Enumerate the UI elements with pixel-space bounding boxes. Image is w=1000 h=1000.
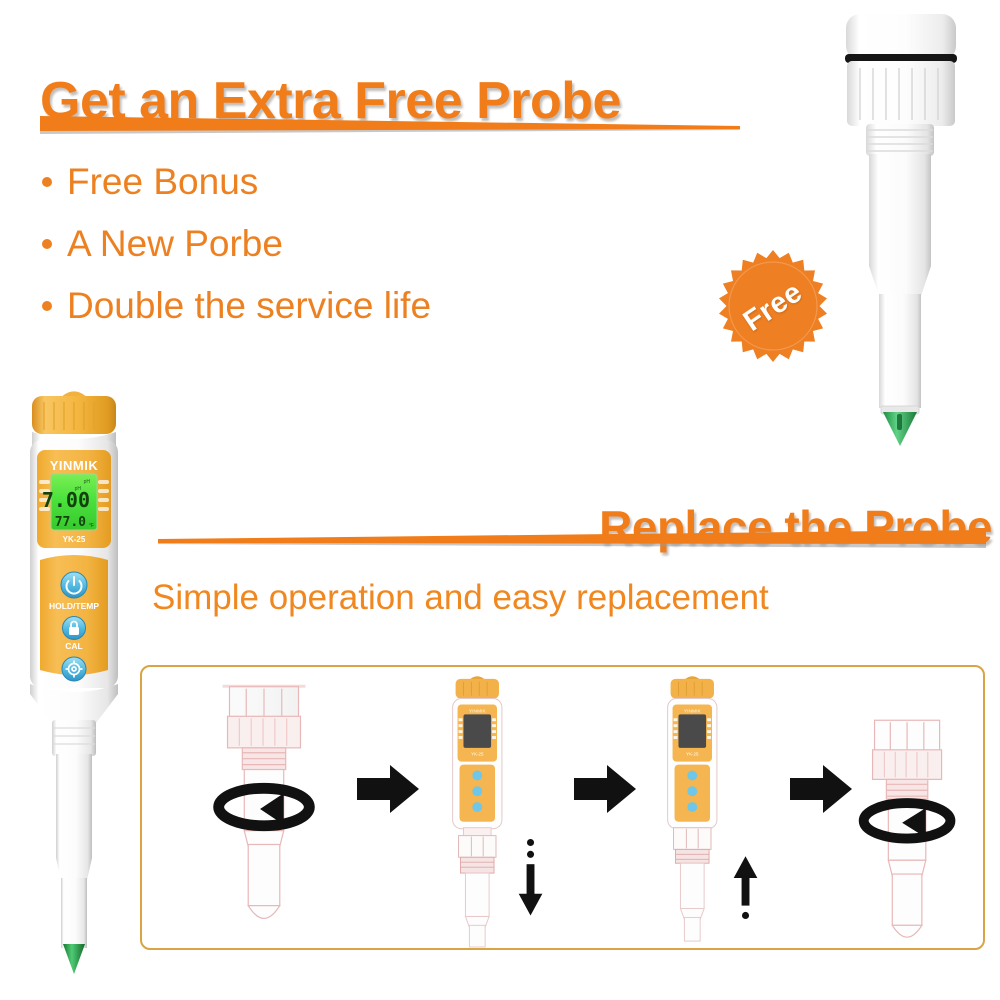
arrow-right-icon: [574, 763, 636, 815]
infographic-canvas: Get an Extra Free Probe Free Bonus A New…: [0, 0, 1000, 1000]
step-2-pull-down: YINMIK YK-25: [427, 667, 567, 948]
free-badge: Free: [714, 248, 832, 366]
list-item-label: Free Bonus: [67, 163, 258, 200]
arrow-down-dashed-icon: [519, 839, 543, 916]
divider-right-taper: [158, 530, 986, 550]
bullet-dot-icon: [42, 239, 52, 249]
model-label: YK-25: [63, 535, 86, 544]
step-3-push-up: YINMIK YK-25: [642, 667, 782, 948]
list-item: Free Bonus: [42, 163, 431, 200]
benefits-list: Free Bonus A New Porbe Double the servic…: [42, 163, 431, 349]
bullet-dot-icon: [42, 177, 52, 187]
svg-text:YINMIK: YINMIK: [469, 708, 487, 714]
list-item-label: A New Porbe: [67, 225, 283, 262]
divider-left-taper: [40, 116, 740, 136]
cal-button-label: CAL: [65, 641, 82, 651]
arrow-right-icon: [357, 763, 419, 815]
divider-wedge: [158, 530, 986, 550]
arrow-up-dashed-icon: [734, 856, 758, 919]
ph-meter-device: YINMIK pH pH 7.00 77.0 °F YK-25 HOLD/TEM: [18, 388, 130, 980]
replace-subtitle: Simple operation and easy replacement: [152, 578, 769, 618]
step-4-rotate-on: [842, 667, 982, 948]
list-item-label: Double the service life: [67, 287, 431, 324]
step-1-rotate-off: [184, 667, 344, 948]
brand-label: YINMIK: [50, 458, 99, 473]
svg-text:YK-25: YK-25: [471, 752, 484, 757]
list-item: Double the service life: [42, 287, 431, 324]
list-item: A New Porbe: [42, 225, 431, 262]
bullet-dot-icon: [42, 301, 52, 311]
power-button-label: HOLD/TEMP: [49, 601, 99, 611]
lcd-secondary-value: 77.0: [55, 515, 86, 530]
lcd-primary-value: 7.00: [42, 488, 90, 512]
lcd-unit-secondary: °F: [89, 523, 94, 529]
lcd-unit-primary: pH: [84, 479, 91, 485]
replacement-steps-panel: YINMIK YK-25: [140, 665, 985, 950]
svg-text:YINMIK: YINMIK: [684, 708, 702, 714]
svg-text:YK-25: YK-25: [686, 752, 699, 757]
replacement-probe: [826, 8, 976, 448]
divider-wedge: [40, 116, 740, 136]
